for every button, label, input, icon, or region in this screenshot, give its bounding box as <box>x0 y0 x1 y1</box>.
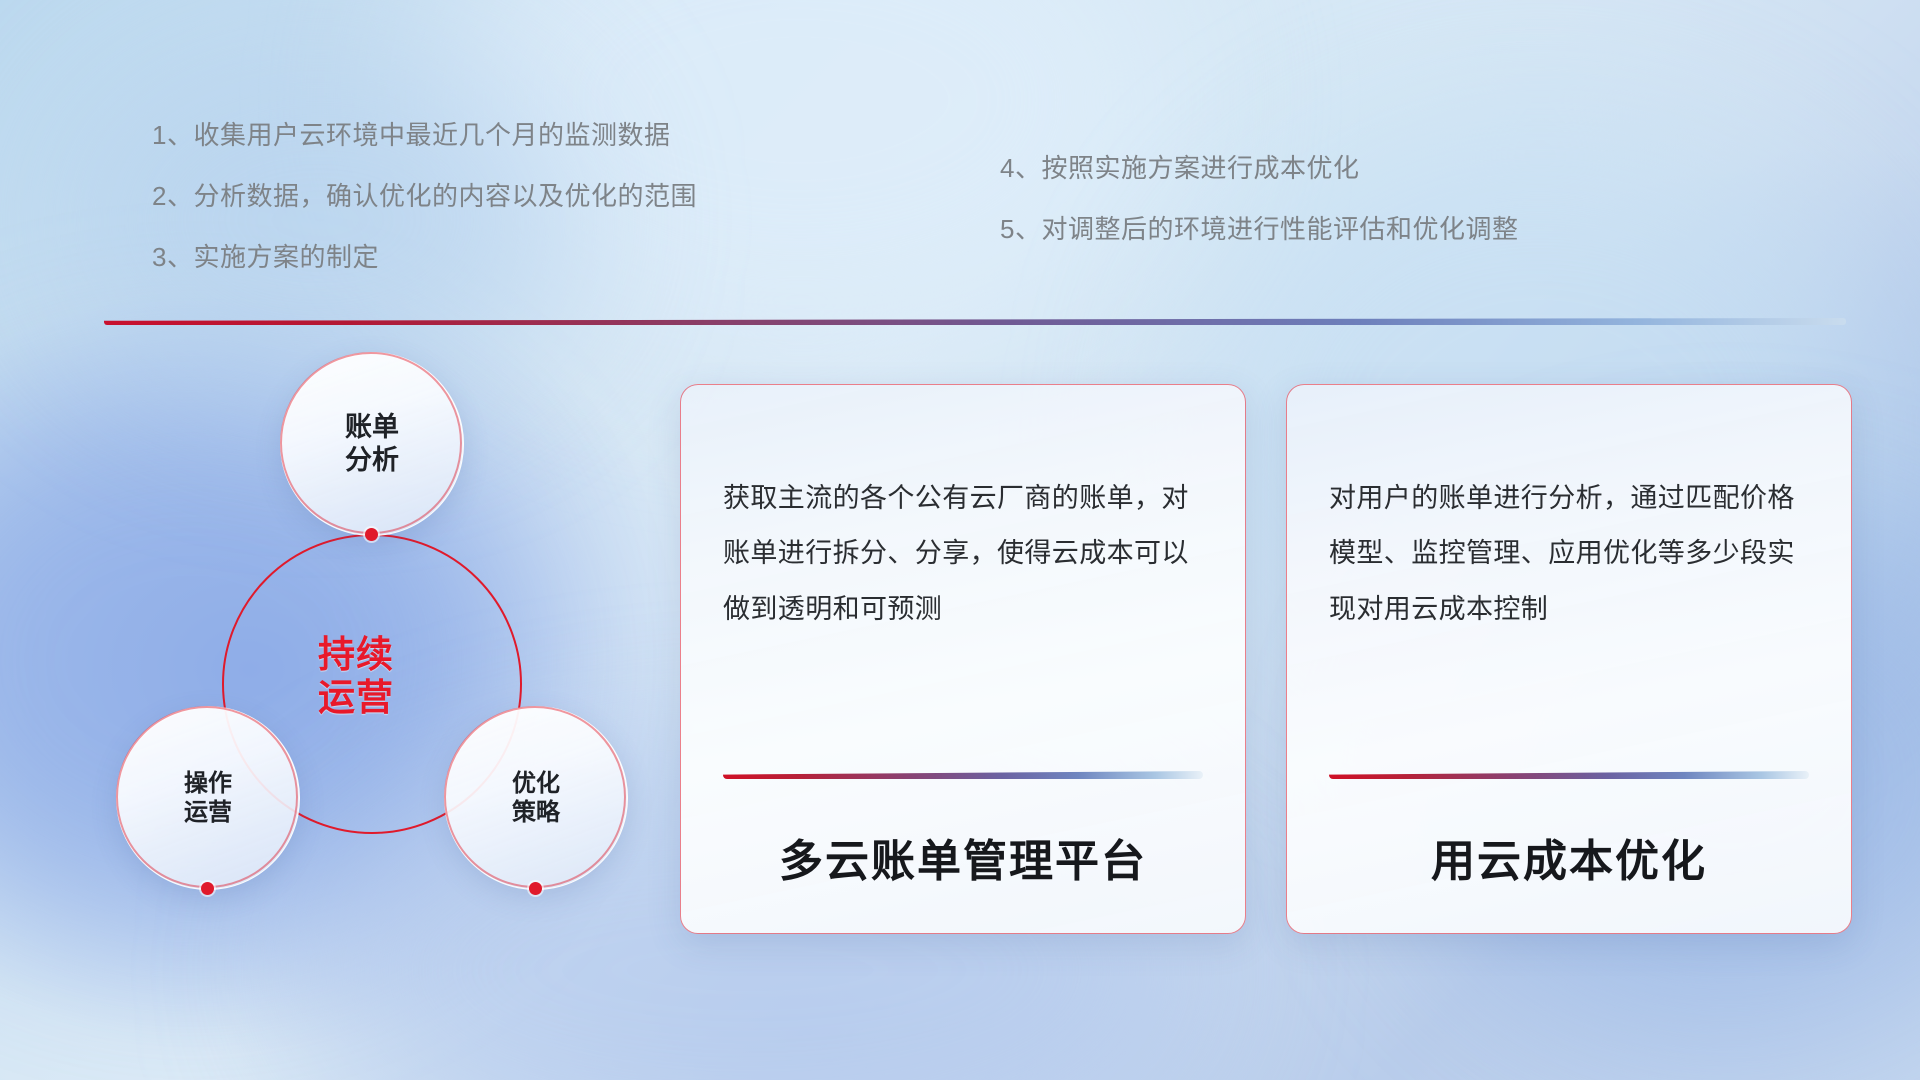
bullet-item-3: 3、实施方案的制定 <box>152 244 697 270</box>
info-card-body: 获取主流的各个公有云厂商的账单，对账单进行拆分、分享，使得云成本可以做到透明和可… <box>723 471 1203 637</box>
venn-center-label: 持续 运营 <box>96 634 616 720</box>
info-card-title: 用云成本优化 <box>1329 825 1809 889</box>
node-dot-right <box>529 882 542 895</box>
node-dot-left <box>201 882 214 895</box>
venn-bubble-bill-analysis[interactable]: 账单 分析 <box>280 352 464 536</box>
info-card-divider <box>723 771 1203 779</box>
venn-bubble-label-line1: 操作 <box>184 769 232 798</box>
venn-bubble-optimization-strategy[interactable]: 优化 策略 <box>444 706 628 890</box>
info-card-divider <box>1329 771 1809 779</box>
info-card-title: 多云账单管理平台 <box>723 825 1203 889</box>
bullet-item-4: 4、按照实施方案进行成本优化 <box>1000 155 1518 181</box>
venn-bubble-label-line2: 分析 <box>345 444 399 477</box>
venn-bubble-label-line1: 账单 <box>345 411 399 444</box>
venn-bubble-operations[interactable]: 操作 运营 <box>116 706 300 890</box>
venn-bubble-label-line2: 运营 <box>184 798 232 827</box>
venn-diagram: 账单 分析 操作 运营 优化 策略 持续 运营 <box>96 352 616 932</box>
bullet-item-5: 5、对调整后的环境进行性能评估和优化调整 <box>1000 216 1518 242</box>
venn-bubble-label-line2: 策略 <box>512 798 560 827</box>
bullet-list-right: 4、按照实施方案进行成本优化 5、对调整后的环境进行性能评估和优化调整 <box>1000 155 1518 242</box>
bullet-item-2: 2、分析数据，确认优化的内容以及优化的范围 <box>152 183 697 209</box>
slide-canvas: 1、收集用户云环境中最近几个月的监测数据 2、分析数据，确认优化的内容以及优化的… <box>0 0 1920 1080</box>
venn-center-line1: 持续 <box>96 634 616 677</box>
venn-bubble-label-line1: 优化 <box>512 769 560 798</box>
info-card-body: 对用户的账单进行分析，通过匹配价格模型、监控管理、应用优化等多少段实现对用云成本… <box>1329 471 1809 637</box>
info-card-cloud-cost-optimization[interactable]: 对用户的账单进行分析，通过匹配价格模型、监控管理、应用优化等多少段实现对用云成本… <box>1286 384 1852 934</box>
header-divider-line <box>104 318 1846 325</box>
bullet-item-1: 1、收集用户云环境中最近几个月的监测数据 <box>152 122 697 148</box>
node-dot-top <box>365 528 378 541</box>
bullet-list-left: 1、收集用户云环境中最近几个月的监测数据 2、分析数据，确认优化的内容以及优化的… <box>152 122 697 270</box>
info-card-multicloud-billing[interactable]: 获取主流的各个公有云厂商的账单，对账单进行拆分、分享，使得云成本可以做到透明和可… <box>680 384 1246 934</box>
venn-center-line2: 运营 <box>96 677 616 720</box>
